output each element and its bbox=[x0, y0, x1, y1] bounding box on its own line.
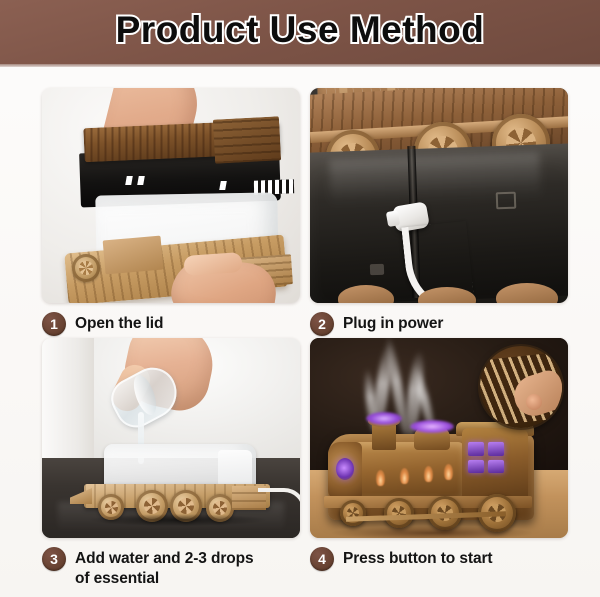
drop-shadow bbox=[90, 514, 266, 526]
step-2-caption-line1: Plug in power bbox=[343, 314, 443, 334]
step-card-3: 3 Add water and 2-3 drops of essential bbox=[42, 338, 300, 589]
inset-fingertip bbox=[526, 394, 542, 410]
step-3-caption: 3 Add water and 2-3 drops of essential bbox=[42, 547, 300, 589]
steam-dome-led-glow bbox=[410, 420, 454, 433]
step-4-caption-text: Press button to start bbox=[343, 547, 492, 569]
cab-window-3 bbox=[468, 460, 484, 473]
steps-grid: 1 Open the lid bbox=[0, 67, 600, 597]
cab-window-4 bbox=[488, 460, 504, 473]
step-2-caption: 2 Plug in power bbox=[310, 312, 568, 336]
side-led-1 bbox=[376, 470, 385, 486]
step-3-photo bbox=[42, 338, 300, 538]
button-closeup-inset bbox=[480, 346, 562, 428]
step-card-1: 1 Open the lid bbox=[42, 88, 300, 336]
driving-wheel-1 bbox=[340, 500, 366, 526]
side-led-4 bbox=[444, 464, 453, 480]
page-title: Product Use Method bbox=[0, 0, 600, 60]
step-1-caption: 1 Open the lid bbox=[42, 312, 300, 336]
step-2-photo bbox=[310, 88, 568, 303]
train-wheel-1 bbox=[72, 254, 100, 282]
step-3-caption-text: Add water and 2-3 drops of essential bbox=[75, 547, 254, 589]
side-led-3 bbox=[424, 466, 433, 482]
step-2-caption-text: Plug in power bbox=[343, 312, 443, 334]
step-4-photo bbox=[310, 338, 568, 538]
drop-shadow bbox=[332, 526, 532, 538]
cab-window-2 bbox=[488, 442, 504, 456]
side-led-2 bbox=[400, 468, 409, 484]
port-label-icon bbox=[496, 192, 517, 210]
power-button[interactable] bbox=[370, 264, 384, 275]
step-badge-3: 3 bbox=[42, 547, 66, 571]
curtain bbox=[42, 338, 94, 462]
step-card-2: 2 Plug in power bbox=[310, 88, 568, 336]
step-1-caption-line1: Open the lid bbox=[75, 314, 163, 334]
hand-lower-fingers bbox=[183, 252, 242, 276]
step-3-caption-line2: of essential bbox=[75, 569, 254, 589]
step-badge-4: 4 bbox=[310, 547, 334, 571]
product-use-method-infographic: Product Use Method bbox=[0, 0, 600, 597]
smokestack-led-glow bbox=[366, 412, 402, 425]
step-badge-2: 2 bbox=[310, 312, 334, 336]
front-led-porthole bbox=[336, 458, 354, 480]
train-cab bbox=[103, 236, 164, 275]
step-card-4: 4 Press button to start bbox=[310, 338, 568, 571]
step-4-caption: 4 Press button to start bbox=[310, 547, 568, 571]
step-badge-1: 1 bbox=[42, 312, 66, 336]
step-4-caption-line1: Press button to start bbox=[343, 549, 492, 569]
step-3-caption-line1: Add water and 2-3 drops bbox=[75, 549, 254, 569]
step-1-photo bbox=[42, 88, 300, 303]
tank-rear-section bbox=[218, 450, 252, 486]
header-banner: Product Use Method bbox=[0, 0, 600, 67]
cab-window-1 bbox=[468, 442, 484, 456]
wooden-lid-rear-section bbox=[213, 116, 281, 163]
driving-wheel-2 bbox=[384, 498, 414, 528]
step-1-caption-text: Open the lid bbox=[75, 312, 163, 334]
